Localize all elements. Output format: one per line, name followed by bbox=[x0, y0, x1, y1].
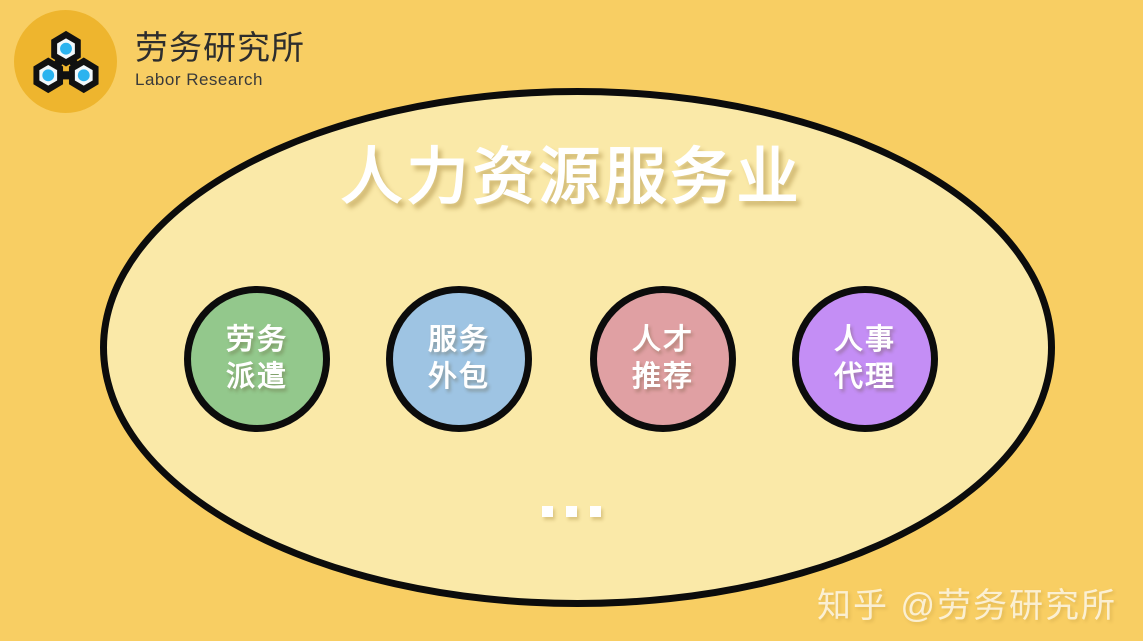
ellipsis-indicator bbox=[0, 506, 1143, 517]
hexagon-network-logo-icon bbox=[14, 10, 117, 113]
service-node-group: 劳务 派遣 服务 外包 人才 推荐 人事 代理 bbox=[0, 286, 1143, 432]
service-node-label-line1: 人才 bbox=[632, 322, 694, 359]
service-node-label-line1: 人事 bbox=[834, 322, 896, 359]
service-node-talent-recommendation[interactable]: 人才 推荐 bbox=[590, 286, 736, 432]
service-node-label-line2: 推荐 bbox=[632, 359, 694, 396]
service-node-service-outsourcing[interactable]: 服务 外包 bbox=[386, 286, 532, 432]
watermark: 知乎 @劳务研究所 bbox=[817, 578, 1117, 627]
service-node-label-line1: 服务 bbox=[428, 322, 490, 359]
brand-subtitle: Labor Research bbox=[135, 70, 305, 90]
brand-lockup: 劳务研究所 Labor Research bbox=[14, 10, 305, 113]
ellipsis-dot bbox=[566, 506, 577, 517]
brand-name: 劳务研究所 bbox=[135, 29, 305, 67]
service-node-label-line1: 劳务 bbox=[226, 322, 288, 359]
service-node-label-line2: 派遣 bbox=[226, 359, 288, 396]
service-node-label-line2: 外包 bbox=[428, 359, 490, 396]
page-title: 人力资源服务业 bbox=[0, 143, 1143, 212]
brand-text-block: 劳务研究所 Labor Research bbox=[135, 29, 305, 95]
ellipsis-dot bbox=[542, 506, 553, 517]
infographic-canvas: 劳务研究所 Labor Research 人力资源服务业 劳务 派遣 服务 外包… bbox=[0, 0, 1143, 641]
ellipsis-dot bbox=[590, 506, 601, 517]
service-node-labor-dispatch[interactable]: 劳务 派遣 bbox=[184, 286, 330, 432]
service-node-label-line2: 代理 bbox=[834, 359, 896, 396]
service-node-hr-agency[interactable]: 人事 代理 bbox=[792, 286, 938, 432]
